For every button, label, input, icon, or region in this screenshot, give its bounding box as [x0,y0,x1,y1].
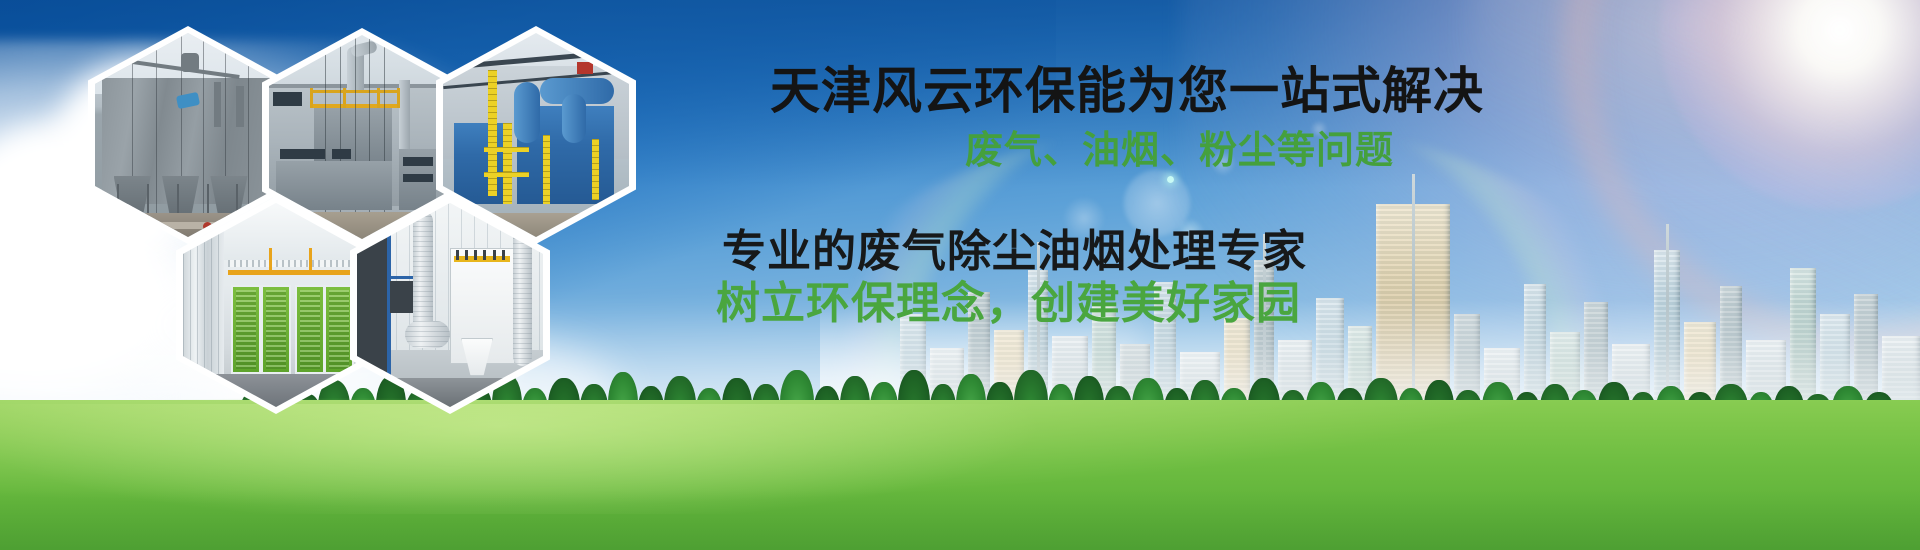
banner-tagline-secondary: 树立环保理念，创建美好家园 [716,282,1301,326]
photo-fume-purification-cabinet [357,203,543,407]
banner-tagline-primary: 专业的废气除尘油烟处理专家 [722,230,1307,274]
promo-banner: 天津风云环保能为您一站式解决 废气、油烟、粉尘等问题 专业的废气除尘油烟处理专家… [0,0,1920,550]
banner-subheadline: 废气、油烟、粉尘等问题 [965,132,1394,170]
hexagon-photo-collage [0,0,700,430]
photo-paint-spray-booth [183,203,369,407]
photo-baghouse-dust-collector [95,33,281,237]
grass-shadow [0,490,1920,550]
lens-flare-dot [1167,176,1174,183]
banner-headline: 天津风云环保能为您一站式解决 [770,66,1484,116]
photo-blue-exhaust-gas-scrubber [443,33,629,237]
